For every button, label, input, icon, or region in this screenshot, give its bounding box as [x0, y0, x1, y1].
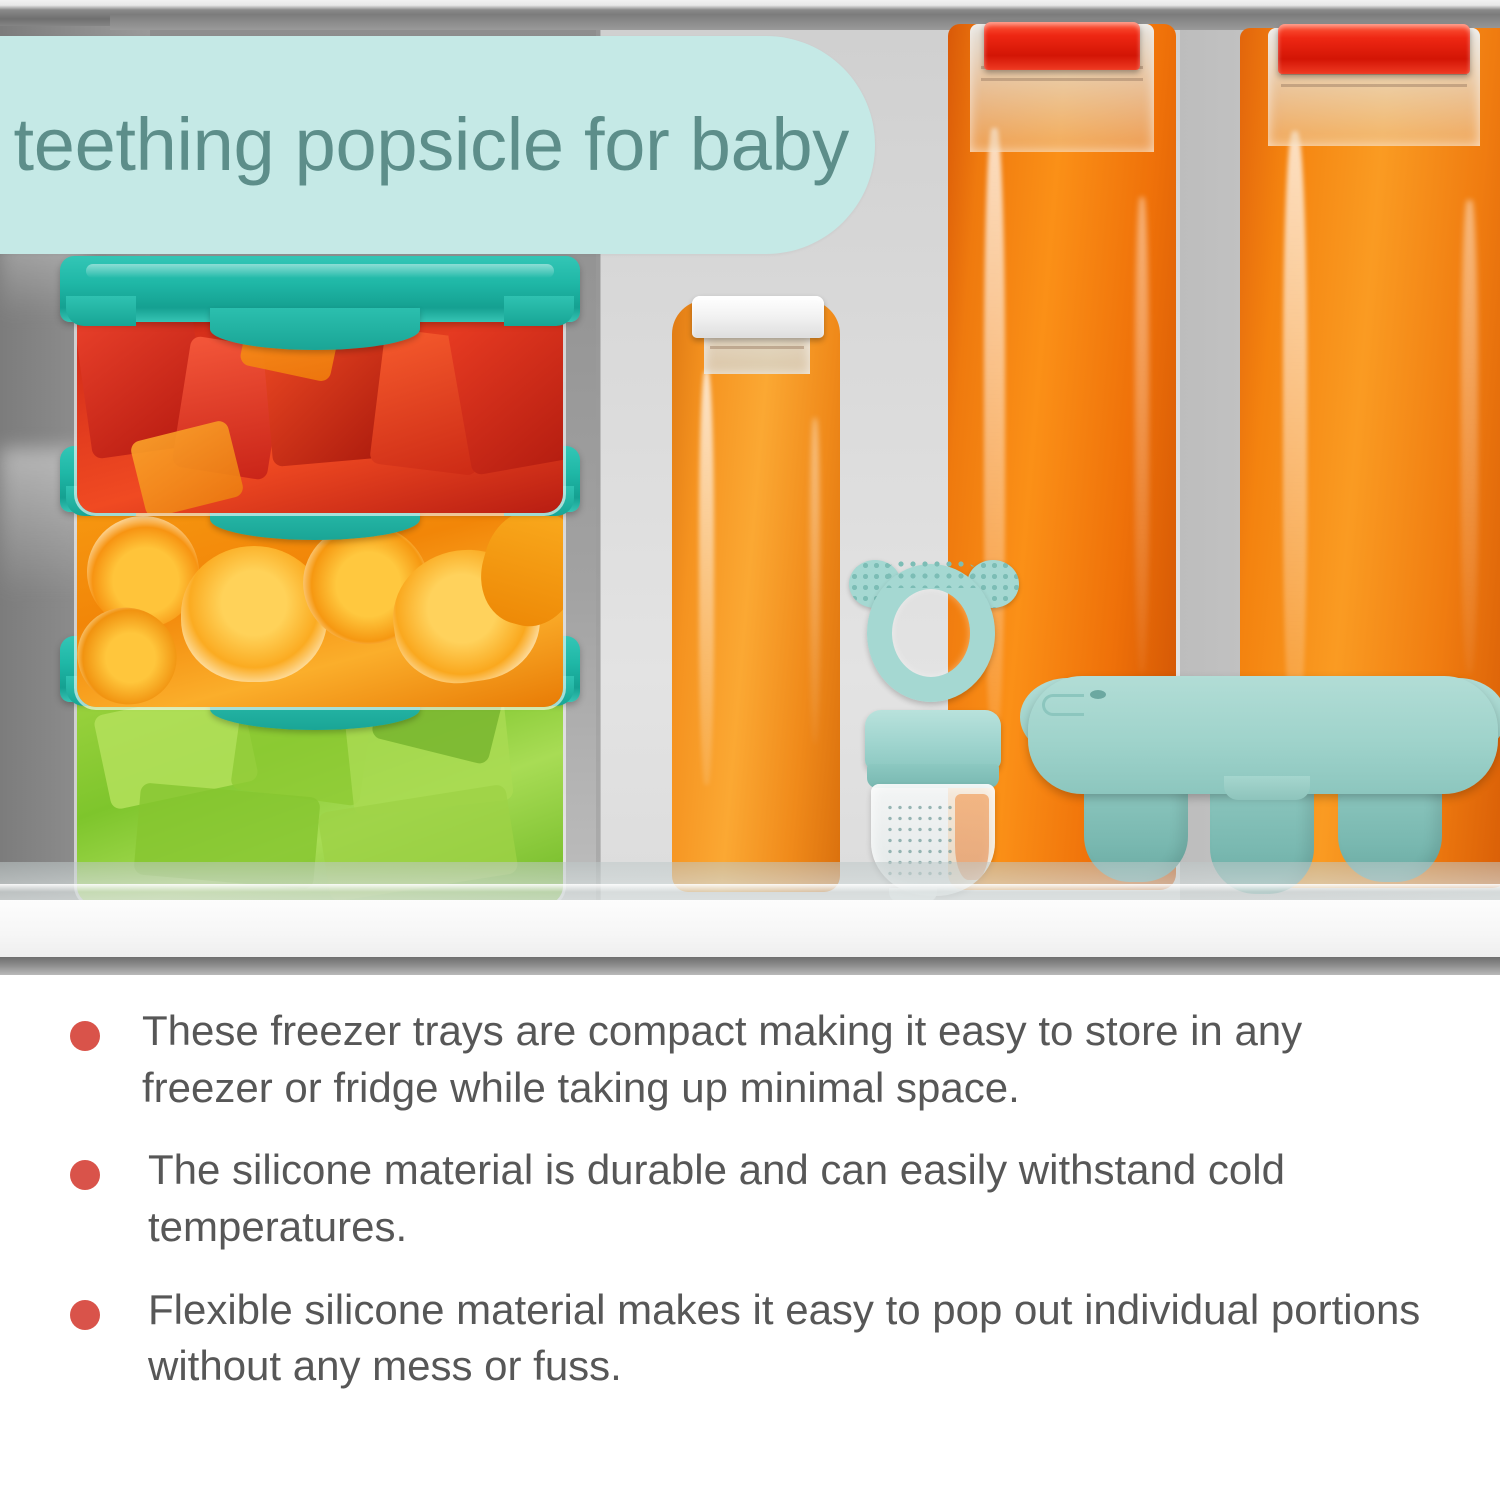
bottle-cap-red [1278, 24, 1470, 74]
bullet-dot-icon [70, 1300, 100, 1330]
fridge-shelf-front [0, 900, 1500, 962]
feature-list: These freezer trays are compact making i… [0, 975, 1500, 1500]
teether-texture-dots [883, 558, 979, 588]
feature-text: These freezer trays are compact making i… [142, 1003, 1430, 1116]
fridge-shelf-highlight [0, 884, 1500, 892]
fridge-shelf-bottom-edge [0, 957, 1500, 975]
mold-lid-tab [1224, 776, 1310, 800]
mold-notch [1042, 694, 1084, 716]
bottle-cap-red [984, 22, 1140, 70]
feature-item: The silicone material is durable and can… [70, 1142, 1430, 1255]
bullet-dot-icon [70, 1021, 100, 1051]
feeder-collar [865, 710, 1001, 770]
headline-banner: teething popsicle for baby [0, 36, 875, 254]
feature-text: Flexible silicone material makes it easy… [148, 1282, 1430, 1395]
product-photo: teething popsicle for baby [0, 0, 1500, 975]
mold-vent-hole [1090, 690, 1106, 699]
headline-text: teething popsicle for baby [13, 108, 849, 182]
bullet-dot-icon [70, 1160, 100, 1190]
feature-item: These freezer trays are compact making i… [70, 1003, 1430, 1116]
bottle-cap-white [692, 296, 824, 338]
juice-bottle-front [672, 300, 840, 892]
baby-fruit-feeder-teether [845, 552, 1025, 897]
feature-text: The silicone material is durable and can… [148, 1142, 1430, 1255]
feature-item: Flexible silicone material makes it easy… [70, 1282, 1430, 1395]
stacked-glass-containers [60, 250, 620, 910]
